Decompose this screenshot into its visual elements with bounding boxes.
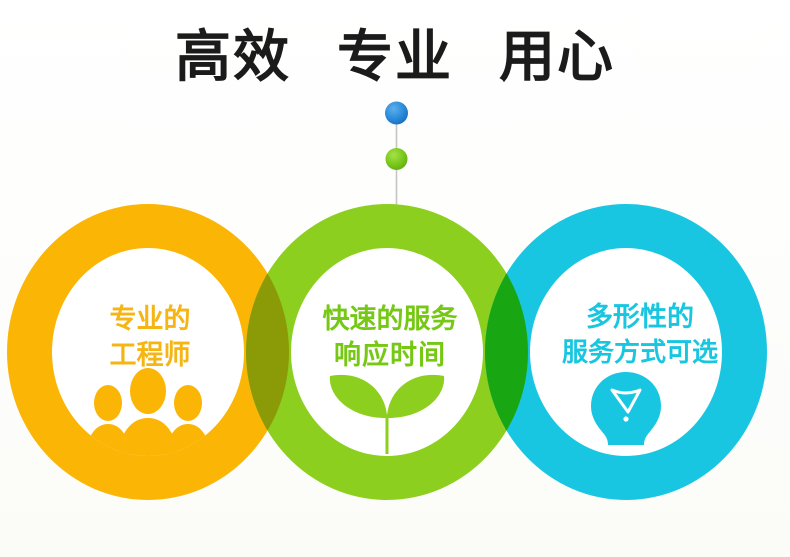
blue-dot-icon	[385, 102, 408, 125]
green-dot-icon	[386, 148, 408, 170]
venn-diagram	[0, 190, 790, 520]
green-cyan-overlap	[0, 190, 790, 520]
poster-canvas: 高效专业用心	[0, 0, 790, 557]
